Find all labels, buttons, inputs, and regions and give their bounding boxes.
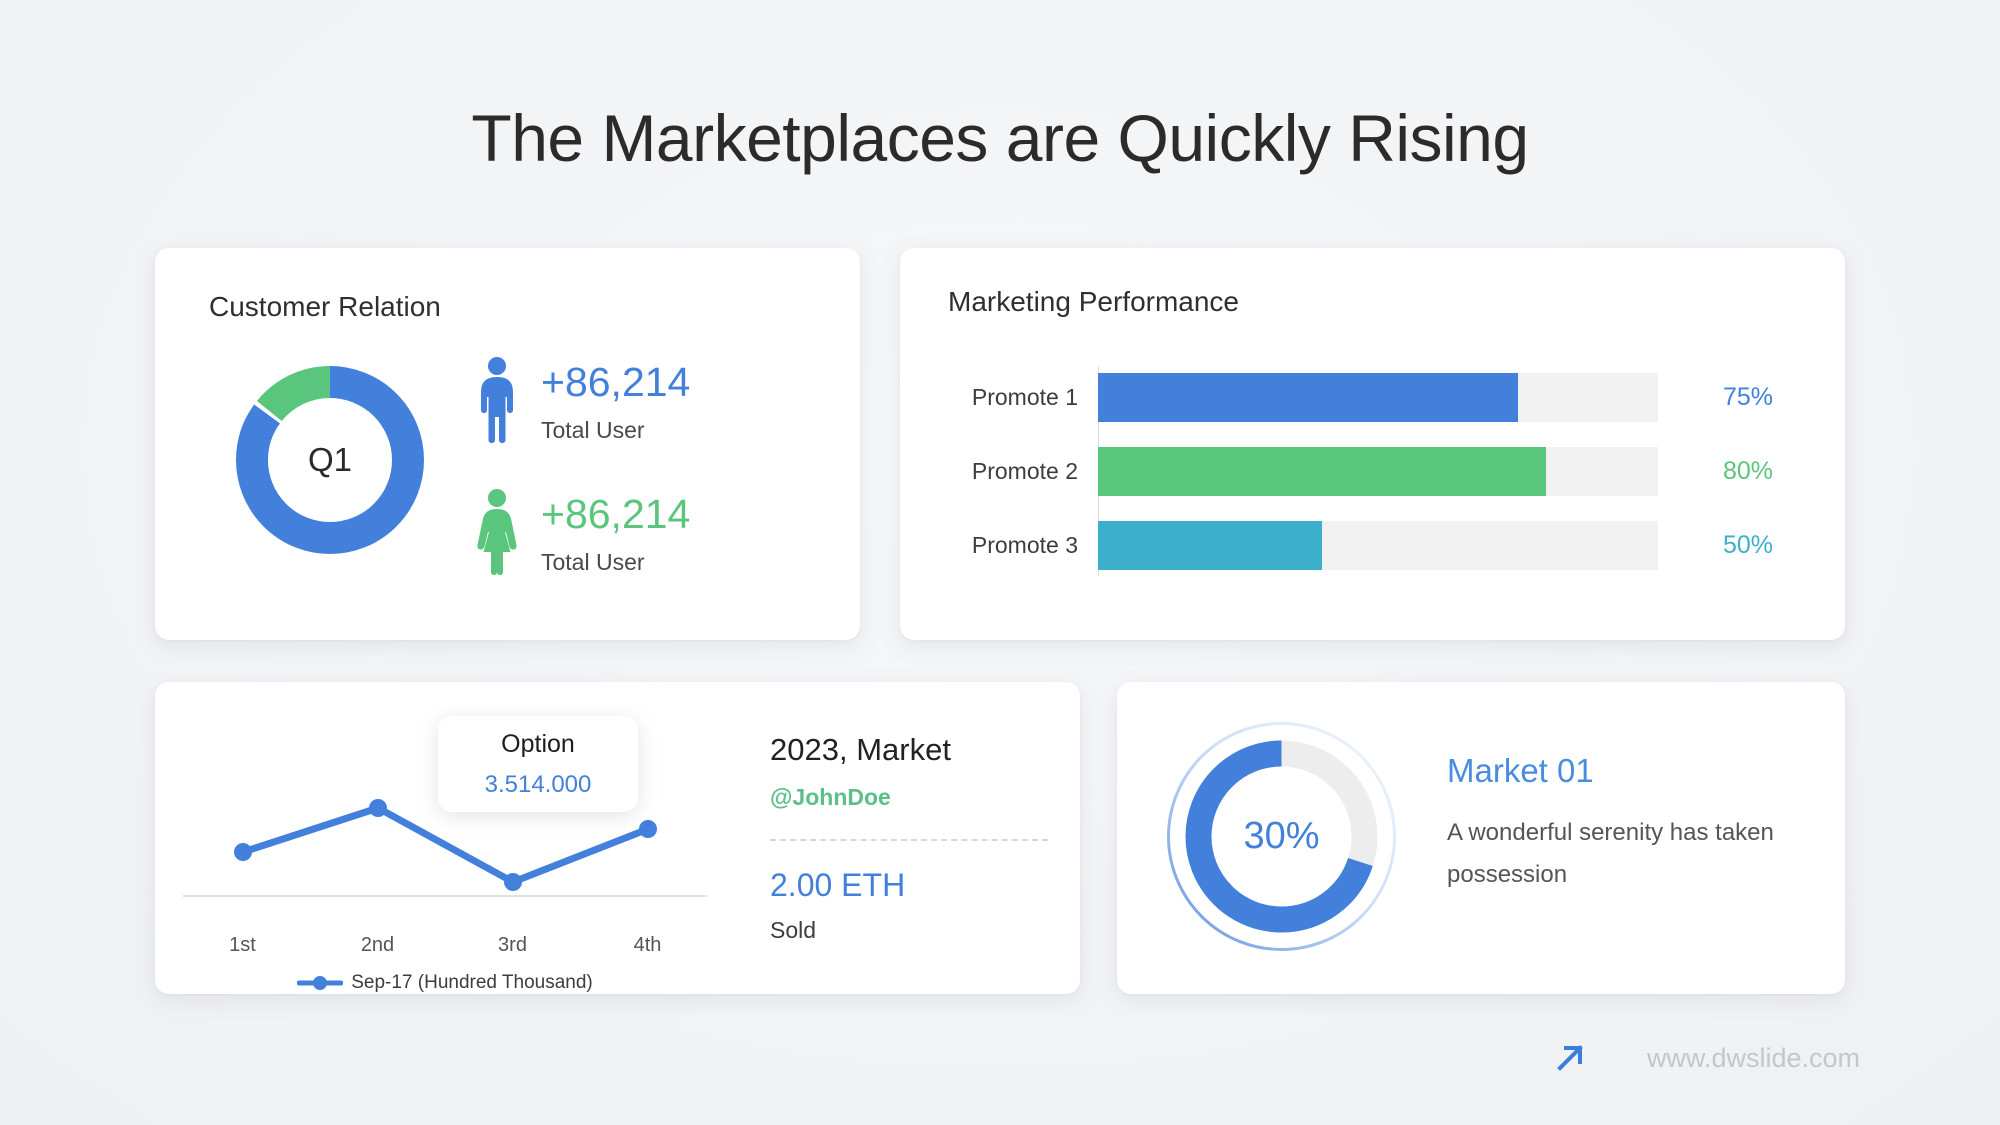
stat-male: +86,214 Total User: [475, 356, 690, 444]
line-chart-legend: Sep-17 (Hundred Thousand): [175, 972, 715, 994]
stat-female: +86,214 Total User: [475, 488, 690, 576]
customer-relation-donut: Q1: [230, 360, 430, 560]
stat-female-label: Total User: [541, 549, 690, 576]
line-series-sep17: [243, 808, 648, 882]
line-point-3rd[interactable]: [504, 873, 522, 891]
legend-label: Sep-17 (Hundred Thousand): [351, 972, 593, 994]
marketing-performance-title: Marketing Performance: [948, 286, 1239, 318]
customer-relation-title: Customer Relation: [209, 291, 441, 323]
line-chart-ticks: 1st 2nd 3rd 4th: [175, 934, 715, 957]
bar-track-promote-1: [1098, 373, 1658, 422]
progress-ring-label: 30%: [1159, 714, 1404, 959]
marketing-performance-card: Marketing Performance Promote 1 75% Prom…: [900, 248, 1845, 640]
donut-center-label: Q1: [230, 360, 430, 560]
market-progress-ring: 30%: [1159, 714, 1404, 959]
legend-marker-icon: [297, 973, 343, 993]
line-chart-tooltip: Option 3.514.000: [417, 716, 638, 812]
bar-row: Promote 1 75%: [948, 360, 1798, 434]
market-info-title: 2023, Market: [770, 732, 1050, 768]
customer-relation-card: Customer Relation Q1 +86,214 Total User: [155, 248, 860, 640]
bar-label-promote-3: Promote 3: [948, 532, 1098, 559]
market-description-block: Market 01 A wonderful serenity has taken…: [1447, 752, 1787, 896]
market-info-handle[interactable]: @JohnDoe: [770, 784, 1050, 811]
bar-percent-promote-1: 75%: [1698, 383, 1798, 412]
line-chart-card: Option 3.514.000 1st 2nd 3rd 4th Sep-17 …: [155, 682, 1080, 994]
line-point-2nd[interactable]: [369, 799, 387, 817]
page-title: The Marketplaces are Quickly Rising: [0, 100, 2000, 176]
market-title: Market 01: [1447, 752, 1787, 790]
footer-url[interactable]: www.dwslide.com: [1647, 1043, 1860, 1074]
tick-4th: 4th: [580, 934, 715, 957]
footer: www.dwslide.com: [1551, 1039, 1860, 1077]
bar-fill-promote-3: [1098, 521, 1322, 570]
bar-fill-promote-1: [1098, 373, 1518, 422]
bar-percent-promote-3: 50%: [1698, 531, 1798, 560]
marketing-bars: Promote 1 75% Promote 2 80% Promote 3 50…: [948, 360, 1798, 582]
stat-female-value: +86,214: [541, 494, 690, 535]
female-person-icon: [475, 488, 519, 576]
market-info-status: Sold: [770, 917, 1050, 944]
line-point-1st[interactable]: [234, 843, 252, 861]
tooltip-title: Option: [501, 730, 575, 758]
market-info-price: 2.00 ETH: [770, 867, 1050, 904]
bar-row: Promote 2 80%: [948, 434, 1798, 508]
bar-label-promote-1: Promote 1: [948, 384, 1098, 411]
bar-track-promote-2: [1098, 447, 1658, 496]
tick-3rd: 3rd: [445, 934, 580, 957]
stat-male-label: Total User: [541, 417, 690, 444]
slide-root: The Marketplaces are Quickly Rising Cust…: [0, 0, 2000, 1125]
market-info: 2023, Market @JohnDoe 2.00 ETH Sold: [770, 732, 1050, 944]
bar-row: Promote 3 50%: [948, 508, 1798, 582]
stat-male-value: +86,214: [541, 362, 690, 403]
market-description: A wonderful serenity has taken possessio…: [1447, 812, 1787, 896]
tick-2nd: 2nd: [310, 934, 445, 957]
line-point-4th[interactable]: [639, 820, 657, 838]
bar-label-promote-2: Promote 2: [948, 458, 1098, 485]
bar-track-promote-3: [1098, 521, 1658, 570]
tick-1st: 1st: [175, 934, 310, 957]
tooltip-value: 3.514.000: [485, 771, 592, 798]
bar-fill-promote-2: [1098, 447, 1546, 496]
market-info-divider: [770, 839, 1048, 841]
arrow-up-right-icon[interactable]: [1551, 1039, 1589, 1077]
male-person-icon: [475, 356, 519, 444]
market-progress-card: 30% Market 01 A wonderful serenity has t…: [1117, 682, 1845, 994]
bar-percent-promote-2: 80%: [1698, 457, 1798, 486]
quarterly-line-chart: Option 3.514.000: [175, 704, 715, 944]
